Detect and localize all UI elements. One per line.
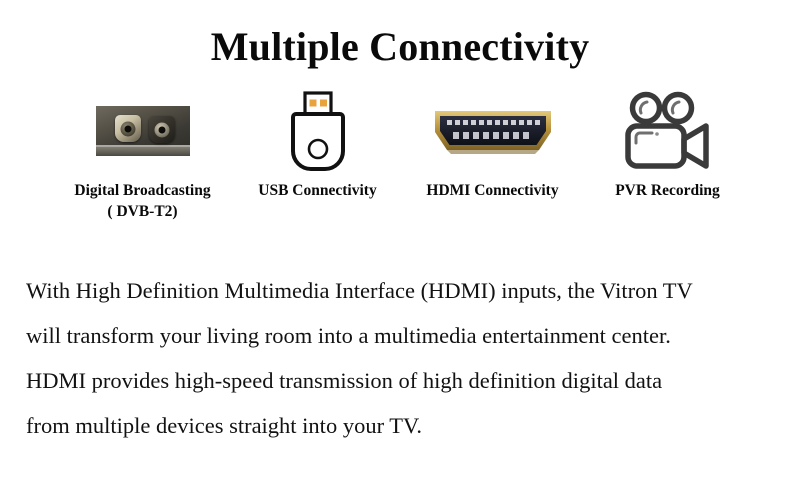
- body-paragraph: With High Definition Multimedia Interfac…: [26, 268, 778, 448]
- hdmi-connector-icon: [431, 88, 555, 174]
- usb-flash-drive-glyph: [287, 89, 349, 173]
- coaxial-antenna-connectors-icon: [96, 88, 190, 174]
- body-line-2: will transform your living room into a m…: [26, 313, 778, 358]
- page-title: Multiple Connectivity: [0, 24, 800, 70]
- panel-bar: [96, 145, 190, 156]
- coax-connector-left: [115, 115, 141, 142]
- coax-hole: [158, 127, 165, 134]
- video-camera-glyph: [620, 91, 716, 171]
- feature-pvr-recording: PVR Recording: [585, 88, 750, 201]
- feature-label-line1: Digital Broadcasting: [74, 182, 210, 199]
- coax-hole: [124, 126, 131, 133]
- body-line-4: from multiple devices straight into your…: [26, 403, 778, 448]
- usb-flash-drive-icon: [287, 88, 349, 174]
- camera-indicator-dot: [655, 132, 659, 136]
- body-line-3: HDMI provides high-speed transmission of…: [26, 358, 778, 403]
- feature-icon-row: Digital Broadcasting ( DVB-T2) USB Conne…: [60, 88, 750, 218]
- feature-label-pvr-recording: PVR Recording: [615, 180, 720, 201]
- video-camera-icon: [620, 88, 716, 174]
- coax-connector-right: [149, 116, 175, 143]
- feature-hdmi-connectivity: HDMI Connectivity: [410, 88, 575, 201]
- feature-label-line2: ( DVB-T2): [107, 203, 177, 220]
- feature-label-hdmi-connectivity: HDMI Connectivity: [426, 180, 558, 201]
- feature-label-usb-connectivity: USB Connectivity: [258, 180, 376, 201]
- feature-label-digital-broadcasting: Digital Broadcasting ( DVB-T2): [59, 180, 227, 222]
- body-line-1: With High Definition Multimedia Interfac…: [26, 268, 778, 313]
- feature-digital-broadcasting: Digital Broadcasting ( DVB-T2): [60, 88, 225, 222]
- antenna-connectors-photo: [96, 106, 190, 156]
- hdmi-connector-glyph: [431, 105, 555, 157]
- feature-usb-connectivity: USB Connectivity: [235, 88, 400, 201]
